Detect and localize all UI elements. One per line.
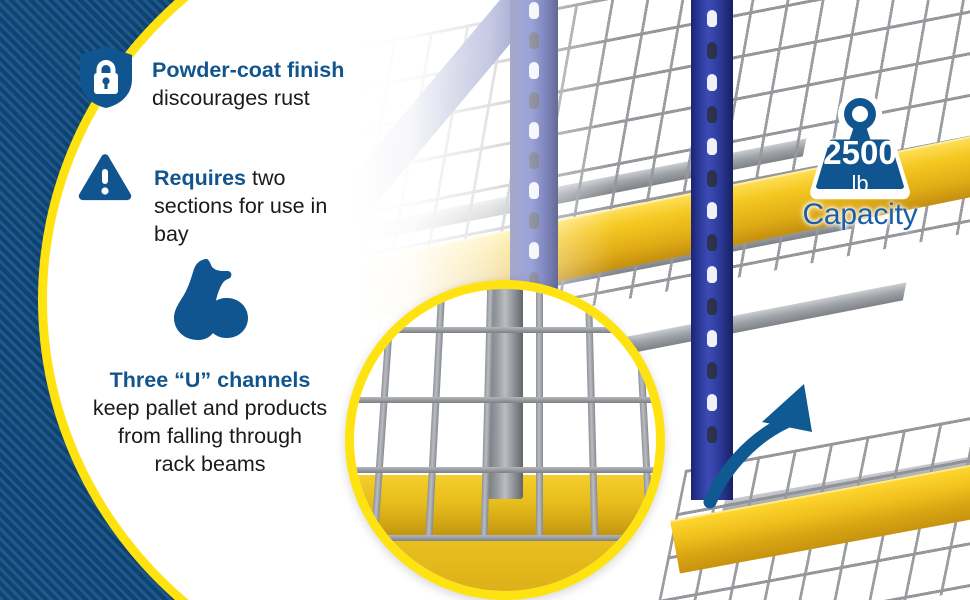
feature-highlight: Powder-coat finish [152, 58, 344, 82]
flexed-bicep-icon [171, 256, 249, 342]
feature-item-requires-two-sections: Requires two sections for use in bay [78, 152, 360, 248]
feature-item-u-channels: Three “U” channels keep pallet and produ… [60, 256, 360, 478]
feature-highlight: Requires [154, 166, 246, 190]
shield-lock-icon [78, 44, 134, 115]
capacity-value: 2500 [823, 134, 896, 171]
feature-body-line1: keep pallet and products [93, 396, 327, 420]
feature-body: discourages rust [152, 86, 310, 110]
feature-body: sections for use in bay [154, 194, 327, 246]
feature-text-u-channels: Three “U” channels keep pallet and produ… [60, 366, 360, 478]
capacity-unit: lb [851, 171, 868, 196]
feature-text-powder-coat: Powder-coat finish discourages rust [152, 44, 344, 112]
capacity-badge: 2500 lb Capacity [760, 88, 960, 232]
infographic-canvas: 2500 lb Capacity Powder-coat finish disc… [0, 0, 970, 600]
feature-body-line3: rack beams [154, 452, 265, 476]
feature-body-line2: from falling through [118, 424, 302, 448]
weight-icon: 2500 lb [790, 88, 930, 200]
feature-inline-rest: two [246, 166, 285, 190]
feature-text-requires: Requires two sections for use in bay [154, 152, 360, 248]
feature-item-powder-coat: Powder-coat finish discourages rust [78, 44, 344, 115]
warning-triangle-icon [78, 152, 132, 207]
feature-list: Powder-coat finish discourages rust Requ… [0, 0, 360, 600]
curved-arrow-icon [700, 370, 870, 510]
magnifier-circle-inset [345, 280, 665, 600]
capacity-label: Capacity [760, 198, 960, 232]
rack-upright-left [510, 0, 558, 320]
feature-highlight: Three “U” channels [110, 368, 311, 392]
